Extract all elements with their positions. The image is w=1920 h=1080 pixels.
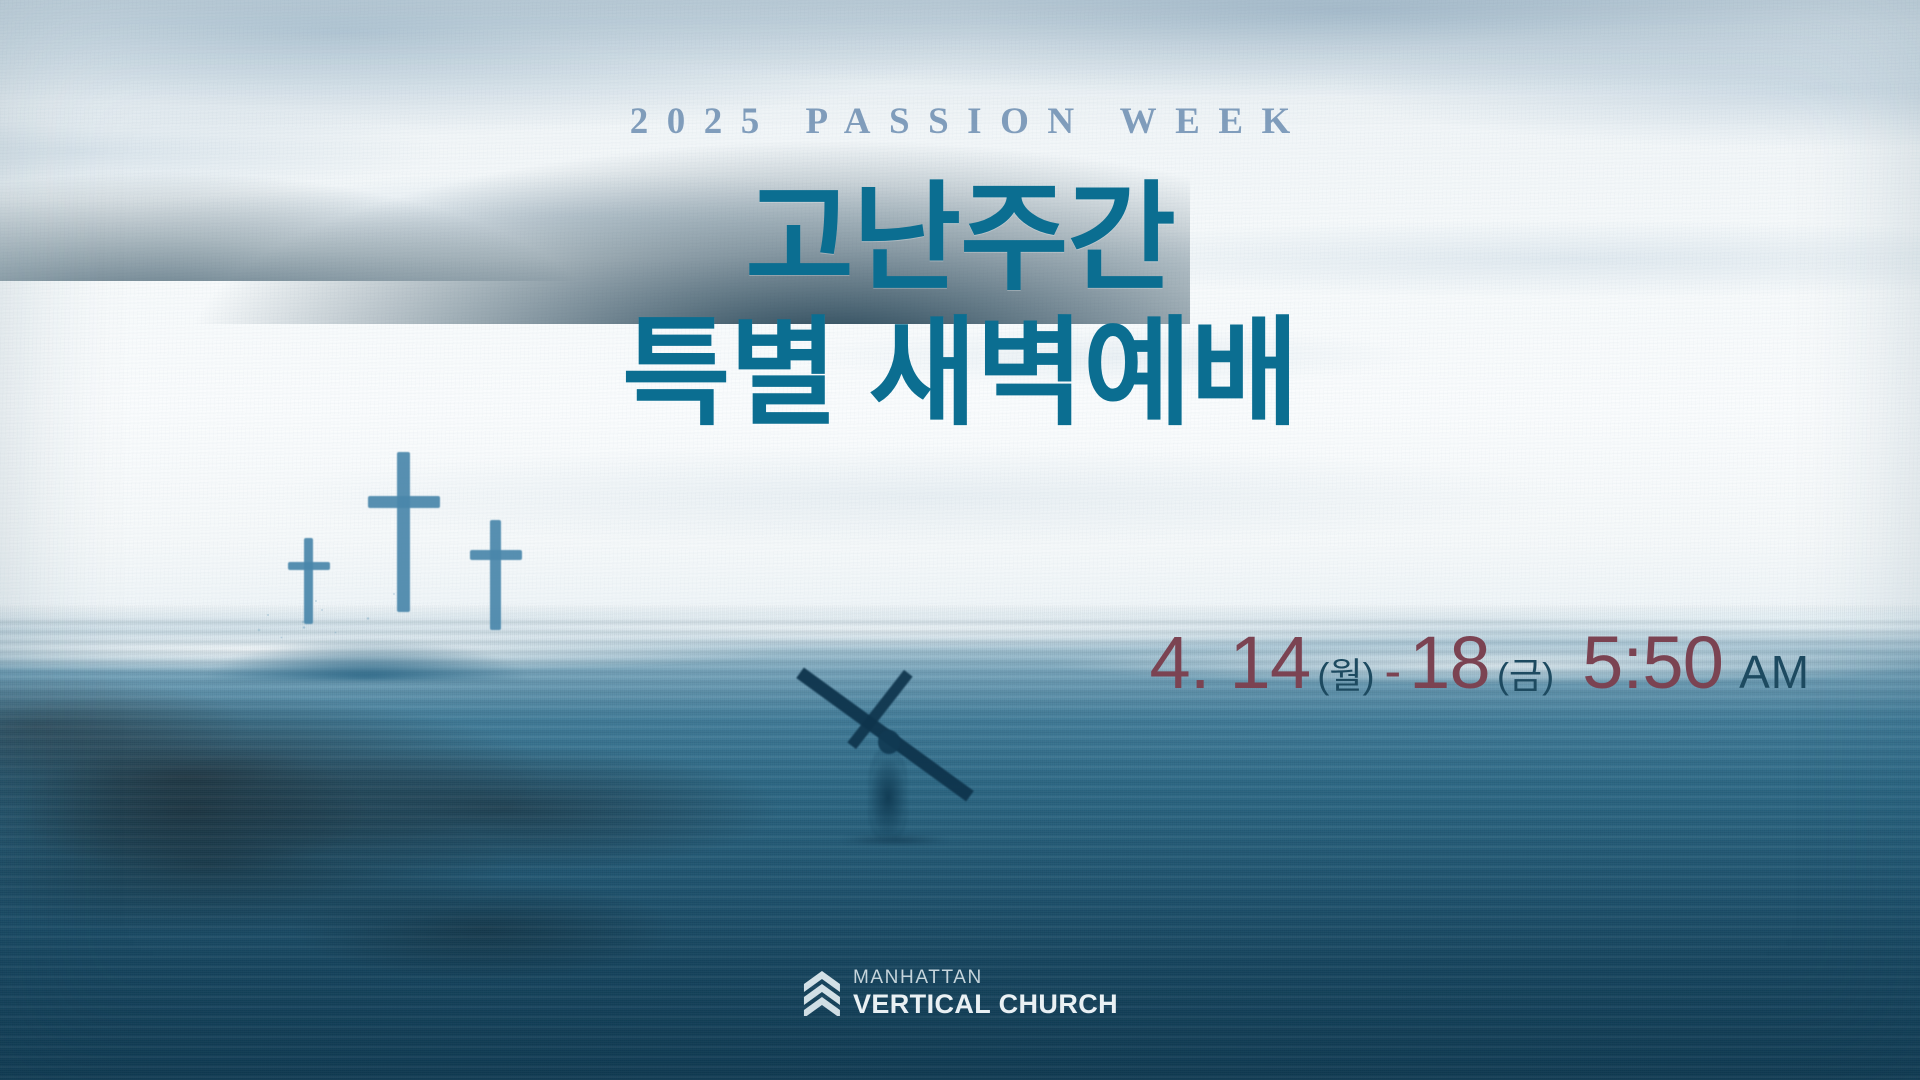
cross-center-large [368,452,440,617]
end-date: 18 [1409,620,1490,705]
cross-right-medium [470,520,522,632]
sky-wash-layer [0,0,1920,1080]
sky-smudge-layer-upper [0,0,1920,1080]
sky-smudge-layer-lower [0,0,1920,1080]
event-kicker-label: 2025 PASSION WEEK [0,100,1920,143]
start-weekday: (월) [1317,647,1374,699]
brush-streak-texture [0,0,1920,1080]
triple-chevron-icon [802,970,842,1016]
title-line-one: 고난주간 [0,176,1920,303]
calvary-hill-shape [190,560,610,680]
service-time: 5:50 [1582,620,1723,705]
rust-band-left-upper [0,648,845,907]
passion-week-poster: 2025 PASSION WEEK 고난주간 특별 새벽예배 4. 14 (월)… [0,0,1920,1080]
figure-body [868,748,908,838]
end-weekday: (금) [1497,647,1554,699]
church-logo-text: MANHATTAN VERTICAL CHURCH [853,968,1118,1018]
poster-title: 고난주간 특별 새벽예배 [0,176,1920,439]
rust-band-right [0,691,384,929]
church-logo: MANHATTAN VERTICAL CHURCH [802,968,1118,1018]
figure-head [878,730,900,754]
paper-grain-texture [0,0,1920,1080]
cross-vertical-beam [490,520,501,630]
rust-band-left-lower [0,778,691,994]
church-logo-line-one: MANHATTAN [853,968,1118,987]
cross-horizontal-beam [368,496,440,508]
cross-vertical-beam [304,538,313,624]
date-range-dash: - [1384,642,1401,700]
cross-horizontal-beam [288,562,330,570]
schedule-line: 4. 14 (월) - 18 (금) 5:50 AM [1149,620,1810,705]
cross-horizontal-beam [470,550,522,560]
paint-spray-speckles-secondary [250,600,340,650]
poster-vignette [0,0,1920,1080]
church-logo-line-two: VERTICAL CHURCH [853,991,1118,1018]
title-line-two: 특별 새벽예배 [0,311,1920,438]
paint-spray-speckles [290,580,420,650]
cross-left-small [288,538,330,626]
service-meridiem: AM [1739,645,1810,699]
cross-vertical-beam [397,452,410,612]
start-date: 4. 14 [1149,620,1310,705]
